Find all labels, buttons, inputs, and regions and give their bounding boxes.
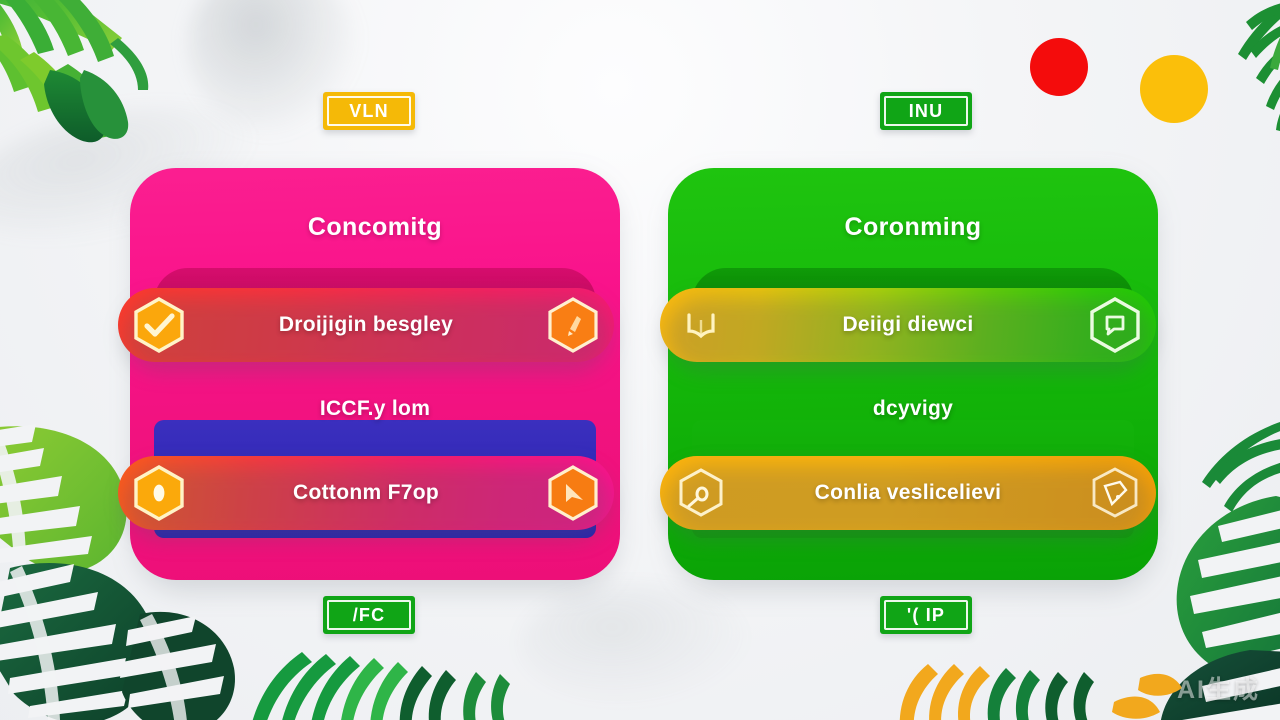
red-dot [1030,38,1088,96]
row-left-3[interactable]: Cottonm F7op [118,456,614,530]
row-label: Cottonm F7op [188,481,544,505]
row-left-1[interactable]: Droijigin besgley [118,288,614,362]
row-label: dcyvigy [668,397,1158,421]
panel-header: Coronming [668,168,1158,286]
row-right-3[interactable]: Conlia veslicelievi [660,456,1156,530]
badge-label: VLN [349,101,389,122]
hexagon-search-icon[interactable] [672,464,730,522]
row-left-2[interactable]: ICCF.y lom [130,372,620,446]
badge-bottom-left[interactable]: /FC [323,596,415,634]
badge-bottom-right[interactable]: '( IP [880,596,972,634]
hexagon-cursor-icon[interactable] [544,464,602,522]
hexagon-chat-icon[interactable] [1086,296,1144,354]
row-label: Droijigin besgley [188,313,544,337]
row-label: Deiigi diewci [730,313,1086,337]
badge-top-left[interactable]: VLN [323,92,415,130]
panel-title: Concomitg [308,213,442,242]
row-label: ICCF.y lom [130,397,620,421]
hexagon-pen-icon[interactable] [544,296,602,354]
row-right-2[interactable]: dcyvigy [668,372,1158,446]
panel-title: Coronming [845,213,982,242]
row-right-1[interactable]: Deiigi diewci [660,288,1156,362]
badge-top-right[interactable]: INU [880,92,972,130]
hexagon-shield-icon[interactable] [1086,464,1144,522]
panel-header: Concomitg [130,168,620,286]
badge-label: '( IP [907,605,945,626]
ai-watermark: AI生成 [1177,670,1260,706]
row-label: Conlia veslicelievi [730,481,1086,505]
badge-label: INU [909,101,944,122]
hexagon-book-icon[interactable] [672,296,730,354]
hexagon-check-icon[interactable] [130,296,188,354]
hexagon-lock-icon[interactable] [130,464,188,522]
badge-label: /FC [353,605,386,626]
yellow-dot [1140,55,1208,123]
